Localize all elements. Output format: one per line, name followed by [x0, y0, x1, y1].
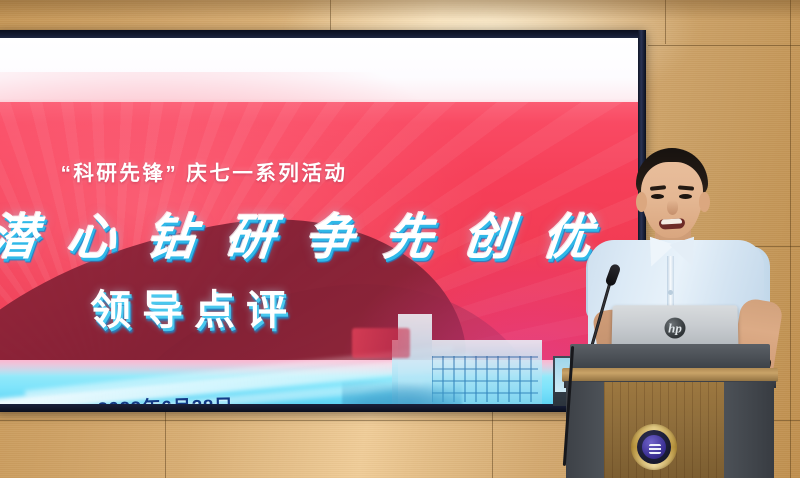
wall-seam [648, 246, 800, 247]
podium-side-left [566, 382, 604, 478]
podium-top-surface [570, 344, 770, 370]
presentation-photo: “科研先锋” 庆七一系列活动 潜 心 钻 研 争 先 创 优 领导点评 ----… [0, 0, 800, 478]
podium-side-right [722, 382, 774, 478]
campus-building-illustration [342, 298, 542, 404]
slide-main-title: 潜 心 钻 研 争 先 创 优 [0, 198, 532, 269]
screen-bezel-bottom [0, 403, 646, 412]
wall-seam [648, 45, 800, 46]
slide-sub-title: 领导点评 [34, 276, 354, 336]
building-trees [342, 376, 462, 404]
wall-seam [492, 412, 493, 478]
institution-crest-icon [631, 424, 677, 470]
building-sign [352, 328, 410, 358]
slide-banner-title: “科研先锋” 庆七一系列活动 [0, 156, 414, 186]
wall-seam [790, 0, 791, 478]
presentation-slide: “科研先锋” 庆七一系列活动 潜 心 钻 研 争 先 创 优 领导点评 ----… [0, 38, 638, 404]
projection-screen: “科研先锋” 庆七一系列活动 潜 心 钻 研 争 先 创 优 领导点评 ----… [0, 30, 646, 412]
crest-emblem-mark [649, 444, 661, 454]
wall-seam [165, 412, 166, 478]
podium-wood-lip [562, 368, 778, 382]
wall-top-shadow [0, 0, 800, 20]
hp-logo-icon: hp [664, 318, 685, 339]
